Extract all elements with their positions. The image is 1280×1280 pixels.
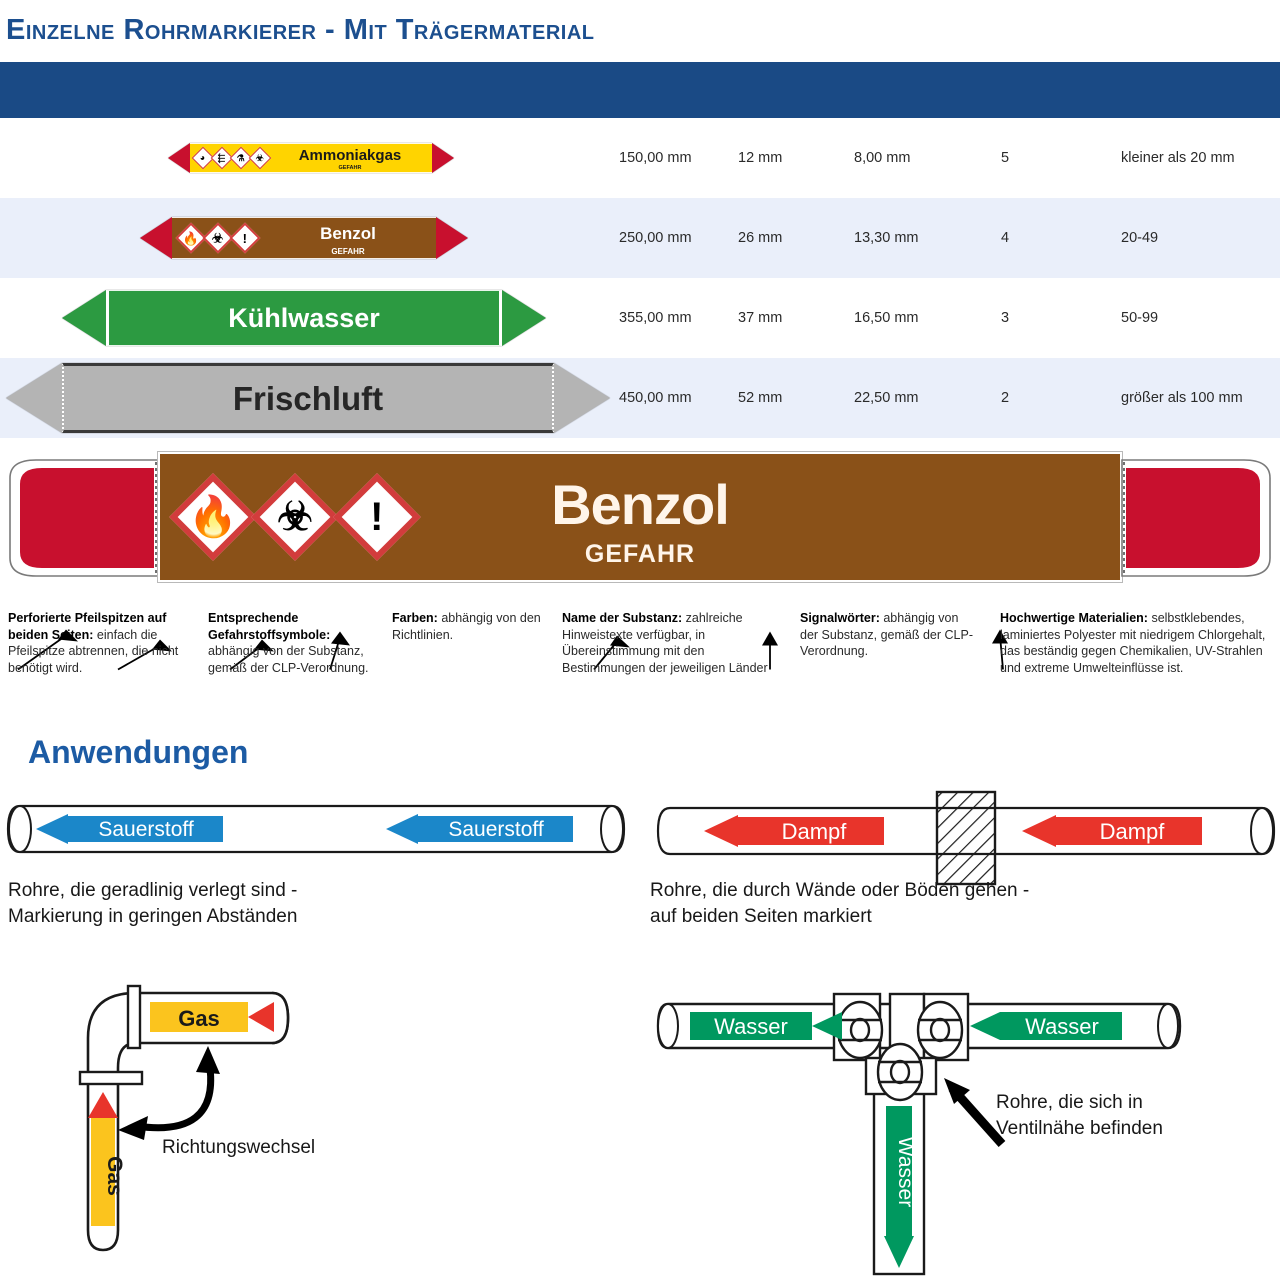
table-row: ◕ ⬱ ⚗ ☣ Ammoniakgas GEFAHR 150,00 mm 12 …	[0, 118, 1280, 198]
cell-hoehe: 26 mm	[738, 230, 782, 246]
callout-hazard-symbols: Entsprechende Gefahrstoffsymbole: abhäng…	[208, 610, 372, 676]
ghs-pictogram-group: ◕ ⬱ ⚗ ☣	[195, 150, 268, 166]
cell-buchstabenhoehe: 13,30 mm	[854, 230, 918, 246]
cell-markierer-pro-rolle: 4	[1001, 230, 1009, 246]
cell-buchstabenhoehe: 16,50 mm	[854, 310, 918, 326]
callout-title: Name der Substanz:	[562, 611, 682, 625]
perforated-arrow-tip-right	[1120, 458, 1268, 576]
cell-rohrdurchmesser: kleiner als 20 mm	[1121, 150, 1235, 166]
applications-heading: Anwendungen	[28, 734, 248, 771]
callout-signal-words: Signalwörter: abhängig von der Substanz,…	[800, 610, 978, 660]
cell-hoehe: 37 mm	[738, 310, 782, 326]
cell-laenge: 150,00 mm	[619, 150, 692, 166]
benzol-marker-signal-word: GEFAHR	[160, 540, 1120, 569]
cell-laenge: 250,00 mm	[619, 230, 692, 246]
pipe-marker-frischluft: Frischluft	[6, 363, 610, 433]
svg-text:Wasser: Wasser	[1025, 1014, 1099, 1039]
exclamation-mark-icon: !	[229, 222, 260, 253]
callout-body: abhängig von der Substanz, gemäß der CLP…	[208, 644, 369, 675]
svg-text:Dampf: Dampf	[782, 819, 848, 844]
pipe-marker-benzol: 🔥 ☣ ! Benzol GEFAHR	[140, 217, 468, 259]
callout-substance-name: Name der Substanz: zahlreiche Hinweistex…	[562, 610, 774, 676]
cell-markierer-pro-rolle: 2	[1001, 390, 1009, 406]
benzol-marker-body: 🔥 ☣ ! Benzol GEFAHR	[158, 452, 1122, 582]
perforated-arrow-tip-left	[8, 458, 156, 576]
cell-laenge: 450,00 mm	[619, 390, 692, 406]
table-header: Länge Höhe (mm) Buchstabenhöhe Markierer…	[0, 62, 1280, 118]
diagram-straight-pipe: Sauerstoff Sauerstoff	[6, 798, 626, 860]
pipe-marker-ammoniakgas: ◕ ⬱ ⚗ ☣ Ammoniakgas GEFAHR	[168, 143, 454, 173]
callout-perforated-tips: Perforierte Pfeilspitzen auf beiden Seit…	[8, 610, 186, 676]
svg-text:Wasser: Wasser	[714, 1014, 788, 1039]
table-row: Kühlwasser 355,00 mm 37 mm 16,50 mm 3 50…	[0, 278, 1280, 358]
cell-rohrdurchmesser: 50-99	[1121, 310, 1158, 326]
svg-text:Gas: Gas	[178, 1006, 220, 1031]
cell-hoehe: 12 mm	[738, 150, 782, 166]
health-hazard-icon: ☣	[249, 147, 272, 170]
page-title: Einzelne Rohrmarkierer - mit Trägermater…	[6, 14, 595, 47]
callout-title: Signalwörter:	[800, 611, 880, 625]
callout-materials: Hochwertige Materialien: selbstklebendes…	[1000, 610, 1274, 676]
cell-markierer-pro-rolle: 5	[1001, 150, 1009, 166]
cell-laenge: 355,00 mm	[619, 310, 692, 326]
cell-markierer-pro-rolle: 3	[1001, 310, 1009, 326]
marker-label: Kühlwasser	[109, 305, 499, 332]
benzol-marker-diagram: 🔥 ☣ ! Benzol GEFAHR	[8, 452, 1272, 582]
svg-text:Gas: Gas	[103, 1156, 126, 1196]
cell-buchstabenhoehe: 22,50 mm	[854, 390, 918, 406]
callout-colours: Farben: abhängig von den Richtlinien.	[392, 610, 552, 643]
svg-text:Sauerstoff: Sauerstoff	[448, 818, 544, 841]
pipe-marker-kuehlwasser: Kühlwasser	[62, 290, 546, 346]
table-row: Frischluft 450,00 mm 52 mm 22,50 mm 2 gr…	[0, 358, 1280, 438]
callout-title: Entsprechende Gefahrstoffsymbole:	[208, 611, 330, 642]
callout-group: Perforierte Pfeilspitzen auf beiden Seit…	[0, 608, 1280, 728]
caption-direction-change: Richtungswechsel	[162, 1135, 315, 1161]
callout-title: Farben:	[392, 611, 438, 625]
callout-title: Hochwertige Materialien:	[1000, 611, 1148, 625]
caption-valve-pipe: Rohre, die sich in Ventilnähe befinden	[996, 1090, 1276, 1142]
caption-straight-pipe: Rohre, die geradlinig verlegt sind - Mar…	[8, 878, 608, 930]
cell-buchstabenhoehe: 8,00 mm	[854, 150, 910, 166]
cell-rohrdurchmesser: größer als 100 mm	[1121, 390, 1243, 406]
diagram-elbow-pipe: Gas Gas	[58, 968, 368, 1268]
svg-text:Dampf: Dampf	[1100, 819, 1166, 844]
svg-text:Sauerstoff: Sauerstoff	[98, 818, 194, 841]
svg-text:Wasser: Wasser	[894, 1137, 917, 1207]
benzol-marker-label: Benzol	[160, 472, 1120, 537]
diagram-wall-penetration: Dampf Dampf	[656, 782, 1276, 890]
ghs-pictogram-group: 🔥 ☣ !	[180, 227, 256, 249]
table-row: 🔥 ☣ ! Benzol GEFAHR 250,00 mm 26 mm 13,3…	[0, 198, 1280, 278]
cell-rohrdurchmesser: 20-49	[1121, 230, 1158, 246]
caption-wall-penetration: Rohre, die durch Wände oder Böden gehen …	[650, 878, 1250, 930]
cell-hoehe: 52 mm	[738, 390, 782, 406]
marker-label: Frischluft	[64, 382, 552, 415]
pipe-marker-datasheet: Einzelne Rohrmarkierer - mit Trägermater…	[0, 0, 1280, 1280]
